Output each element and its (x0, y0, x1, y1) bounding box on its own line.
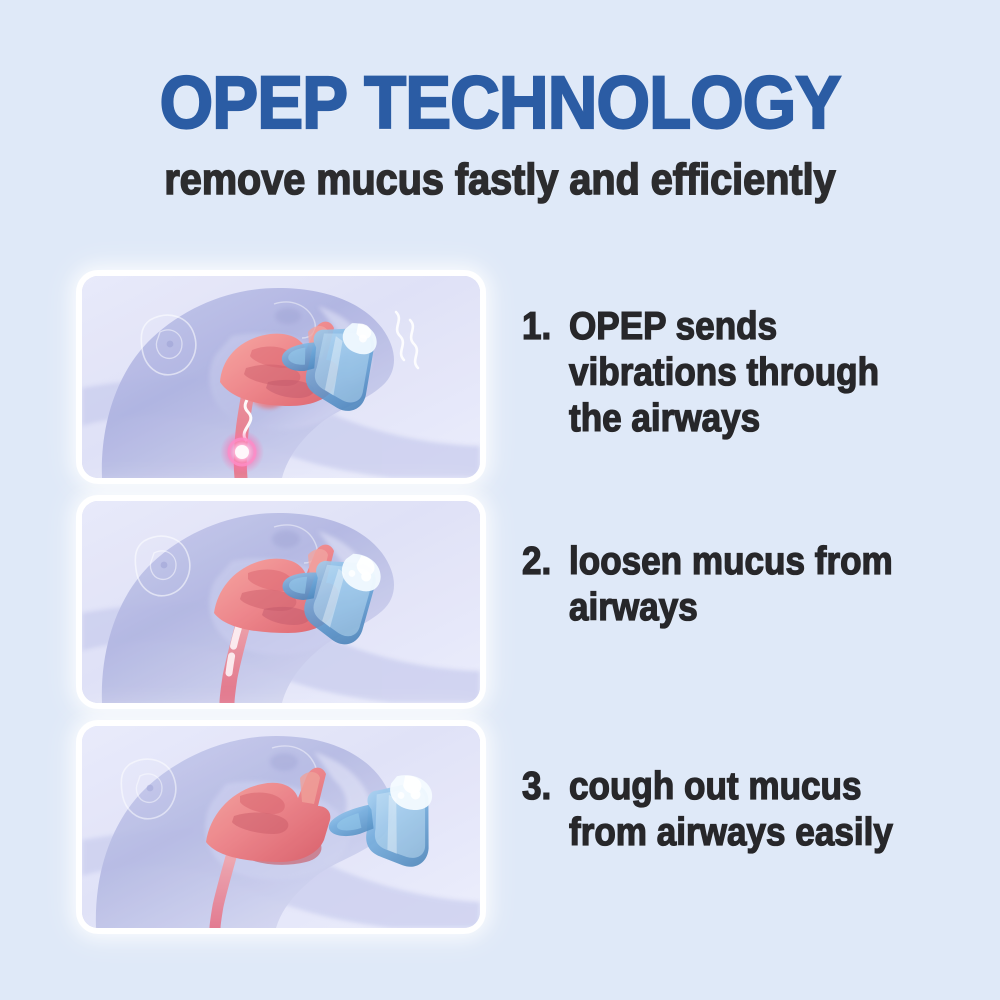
step-number-2: 2. (522, 539, 551, 585)
opep-vibration-illustration (82, 276, 480, 478)
cough-out-mucus-illustration (82, 726, 480, 928)
illustration-panel-2 (82, 501, 480, 703)
step-2: 2. loosen mucus from airways (522, 539, 972, 631)
steps-list: 1. OPEP sends vibrations through the air… (0, 276, 1000, 951)
step-text-2: loosen mucus from airways (569, 539, 932, 631)
step-number-3: 3. (522, 764, 551, 810)
page-subtitle: remove mucus fastly and efficiently (50, 140, 950, 204)
step-number-1: 1. (522, 304, 551, 350)
illustration-panel-1 (82, 276, 480, 478)
page-title: OPEP TECHNOLOGY (35, 0, 965, 140)
step-text-1: OPEP sends vibrations through the airway… (569, 304, 932, 442)
step-1: 1. OPEP sends vibrations through the air… (522, 304, 972, 442)
step-row-2: 2. loosen mucus from airways (0, 501, 1000, 703)
illustration-panel-3 (82, 726, 480, 928)
opep-loosen-mucus-illustration (82, 501, 480, 703)
header: OPEP TECHNOLOGY remove mucus fastly and … (0, 0, 1000, 204)
step-row-1: 1. OPEP sends vibrations through the air… (0, 276, 1000, 478)
step-3: 3. cough out mucus from airways easily (522, 764, 972, 856)
step-text-3: cough out mucus from airways easily (569, 764, 932, 856)
step-row-3: 3. cough out mucus from airways easily (0, 726, 1000, 928)
